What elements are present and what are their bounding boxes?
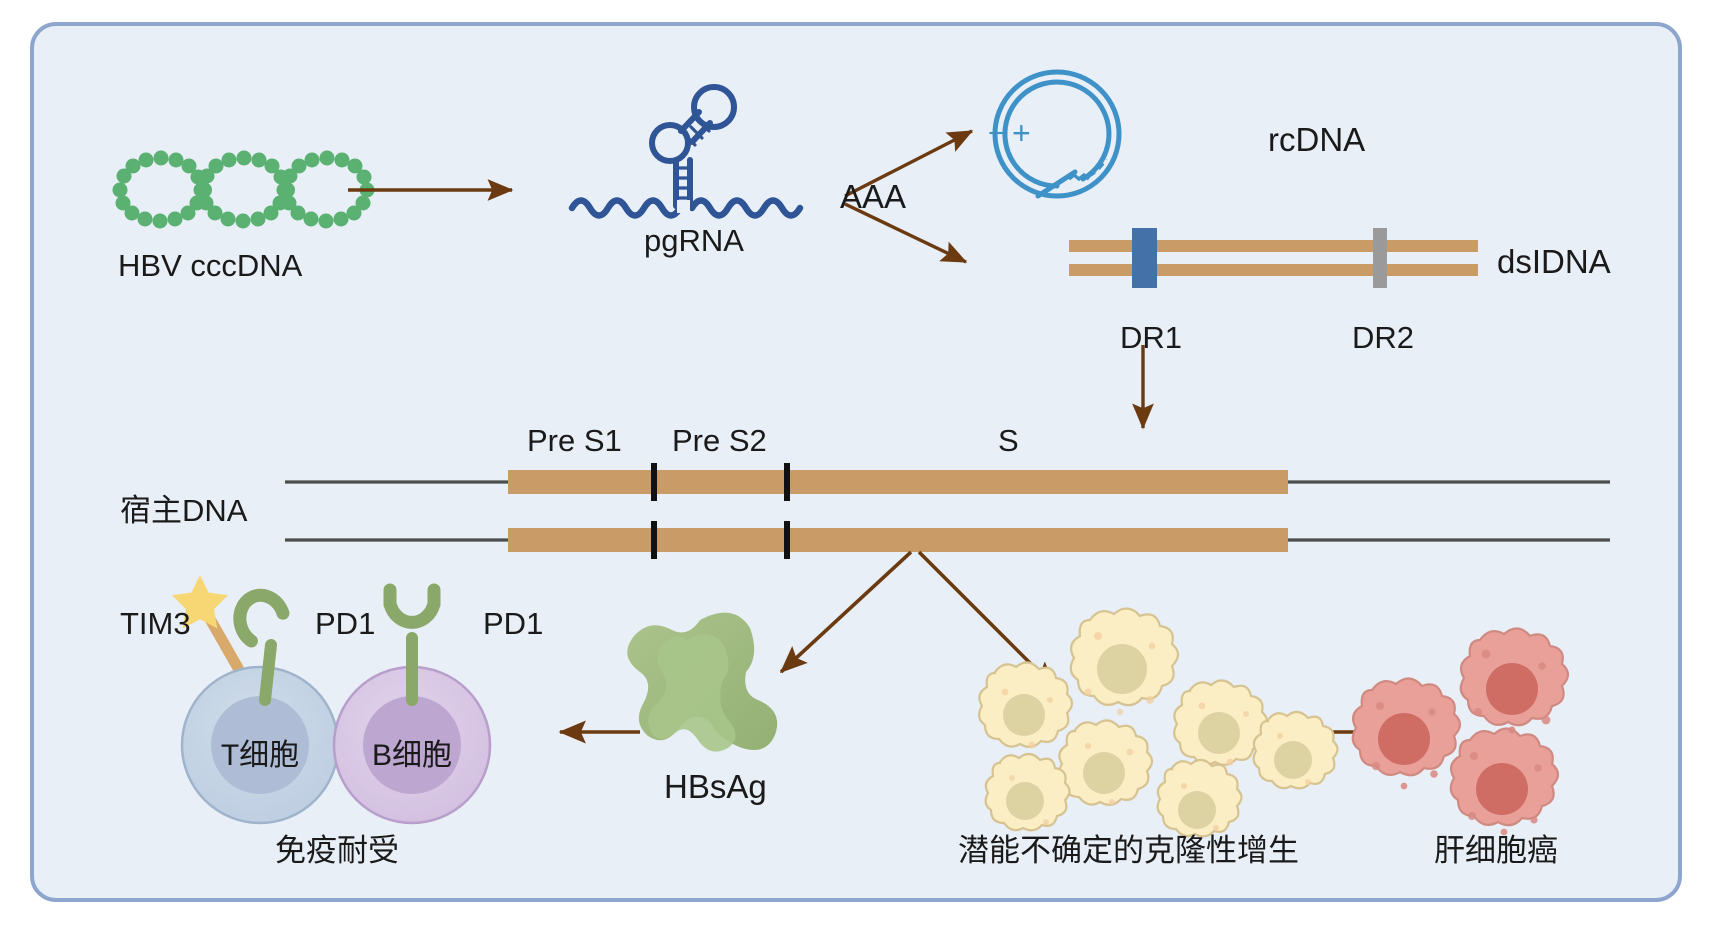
label-pd1-b-cell: PD1 (483, 608, 543, 639)
label-dr1: DR1 (1120, 322, 1182, 353)
label-pgrna: pgRNA (644, 225, 744, 256)
label-dsldna: dsIDNA (1497, 245, 1611, 278)
label-clonal-expansion: 潜能不确定的克隆性增生 (958, 835, 1299, 866)
label-immune-tolerance: 免疫耐受 (275, 835, 399, 866)
label-hcc: 肝细胞癌 (1434, 835, 1558, 866)
label-gene-pre-s1: Pre S1 (527, 425, 622, 456)
label-b-cell: B细胞 (372, 730, 452, 774)
label-gene-pre-s2: Pre S2 (672, 425, 767, 456)
diagram-stage: − + (0, 0, 1713, 945)
label-poly-a: AAA (840, 180, 906, 213)
label-dr2: DR2 (1352, 322, 1414, 353)
label-rcdna: rcDNA (1268, 123, 1365, 156)
label-t-cell: T细胞 (221, 730, 299, 774)
label-hbsag: HBsAg (664, 770, 767, 803)
label-gene-s: S (998, 425, 1019, 456)
label-hbv-cccdna: HBV cccDNA (118, 250, 302, 281)
label-host-dna: 宿主DNA (120, 495, 247, 526)
label-pd1-t-cell: PD1 (315, 608, 375, 639)
label-tim3: TIM3 (120, 608, 191, 639)
